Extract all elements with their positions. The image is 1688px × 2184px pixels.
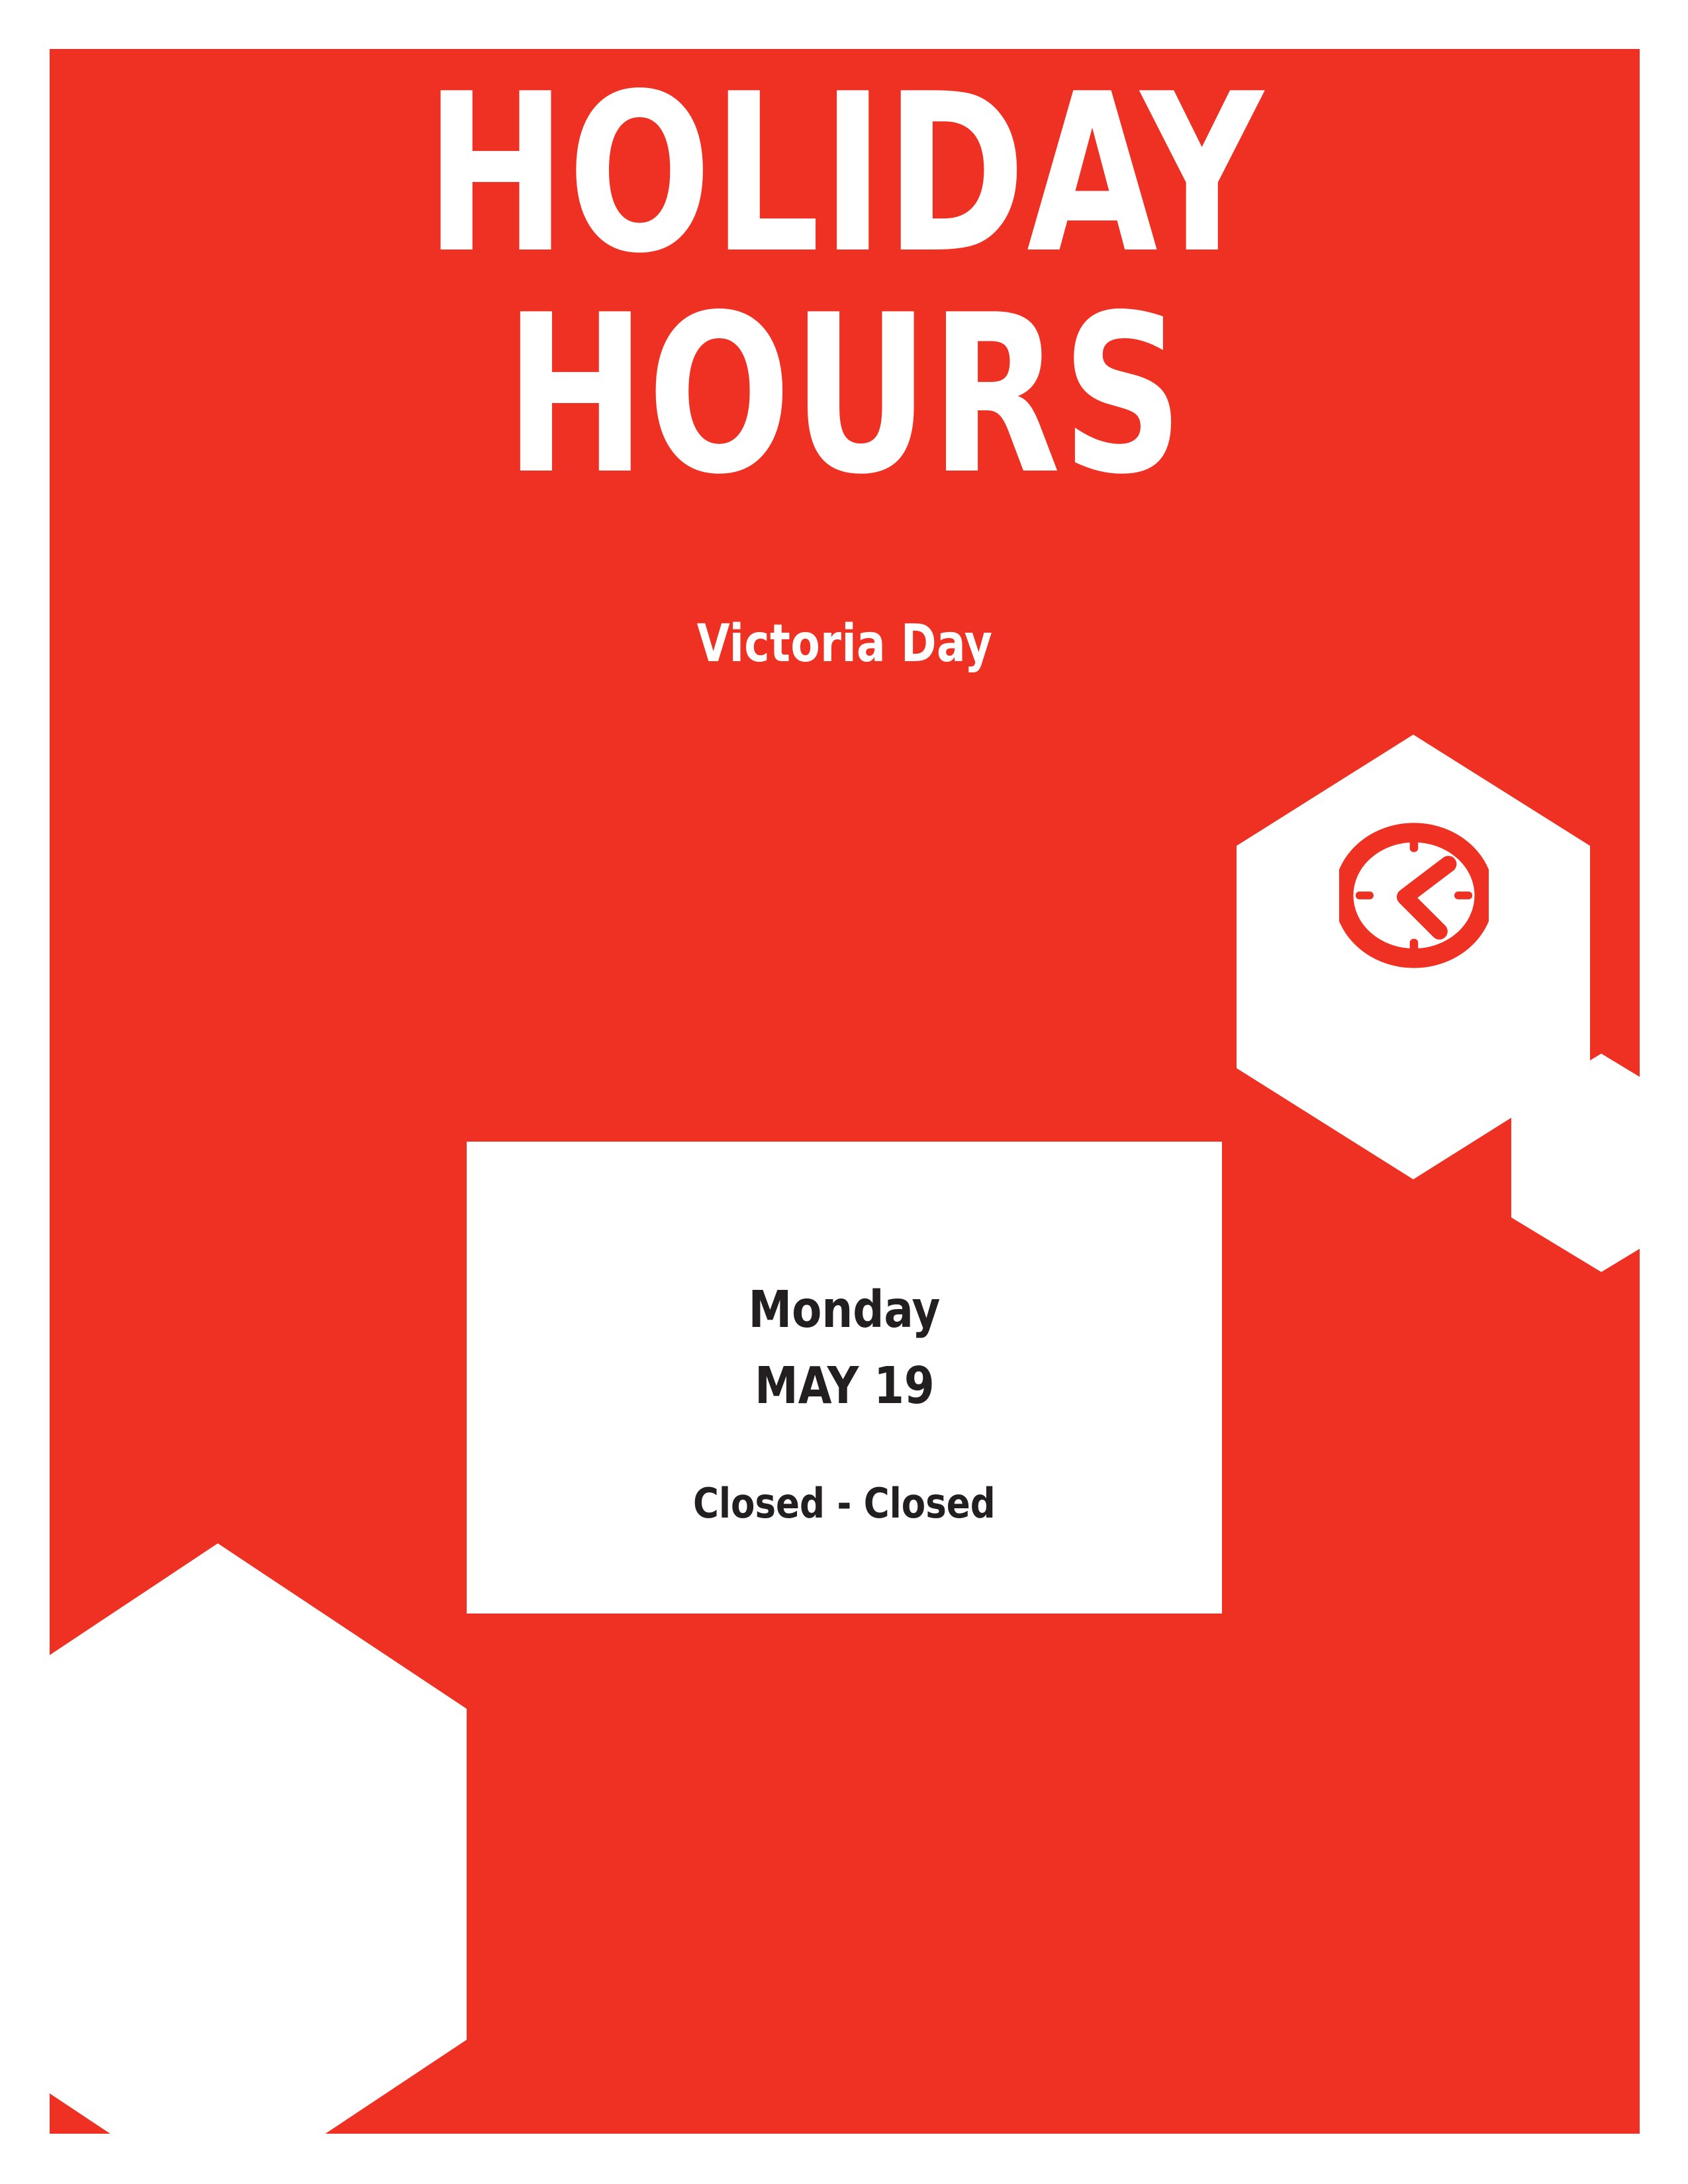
schedule-day-label: Monday xyxy=(749,1285,941,1336)
clock-icon xyxy=(1339,821,1489,970)
holiday-name-subtitle: Victoria Day xyxy=(113,618,1576,670)
page-title-line-1: HOLIDAY xyxy=(161,74,1528,275)
page-title-line-2: HOURS xyxy=(161,295,1528,496)
holiday-hours-poster: HOLIDAY HOURS Victoria Day Monda xyxy=(0,0,1688,2184)
schedule-hours-label: Closed - Closed xyxy=(693,1483,996,1524)
schedule-date-label: MAY 19 xyxy=(755,1361,935,1412)
red-background-panel: HOLIDAY HOURS Victoria Day Monda xyxy=(50,49,1640,2134)
hexagon-corner-decoration xyxy=(50,1543,467,2134)
schedule-card: Monday MAY 19 Closed - Closed xyxy=(467,1142,1222,1614)
